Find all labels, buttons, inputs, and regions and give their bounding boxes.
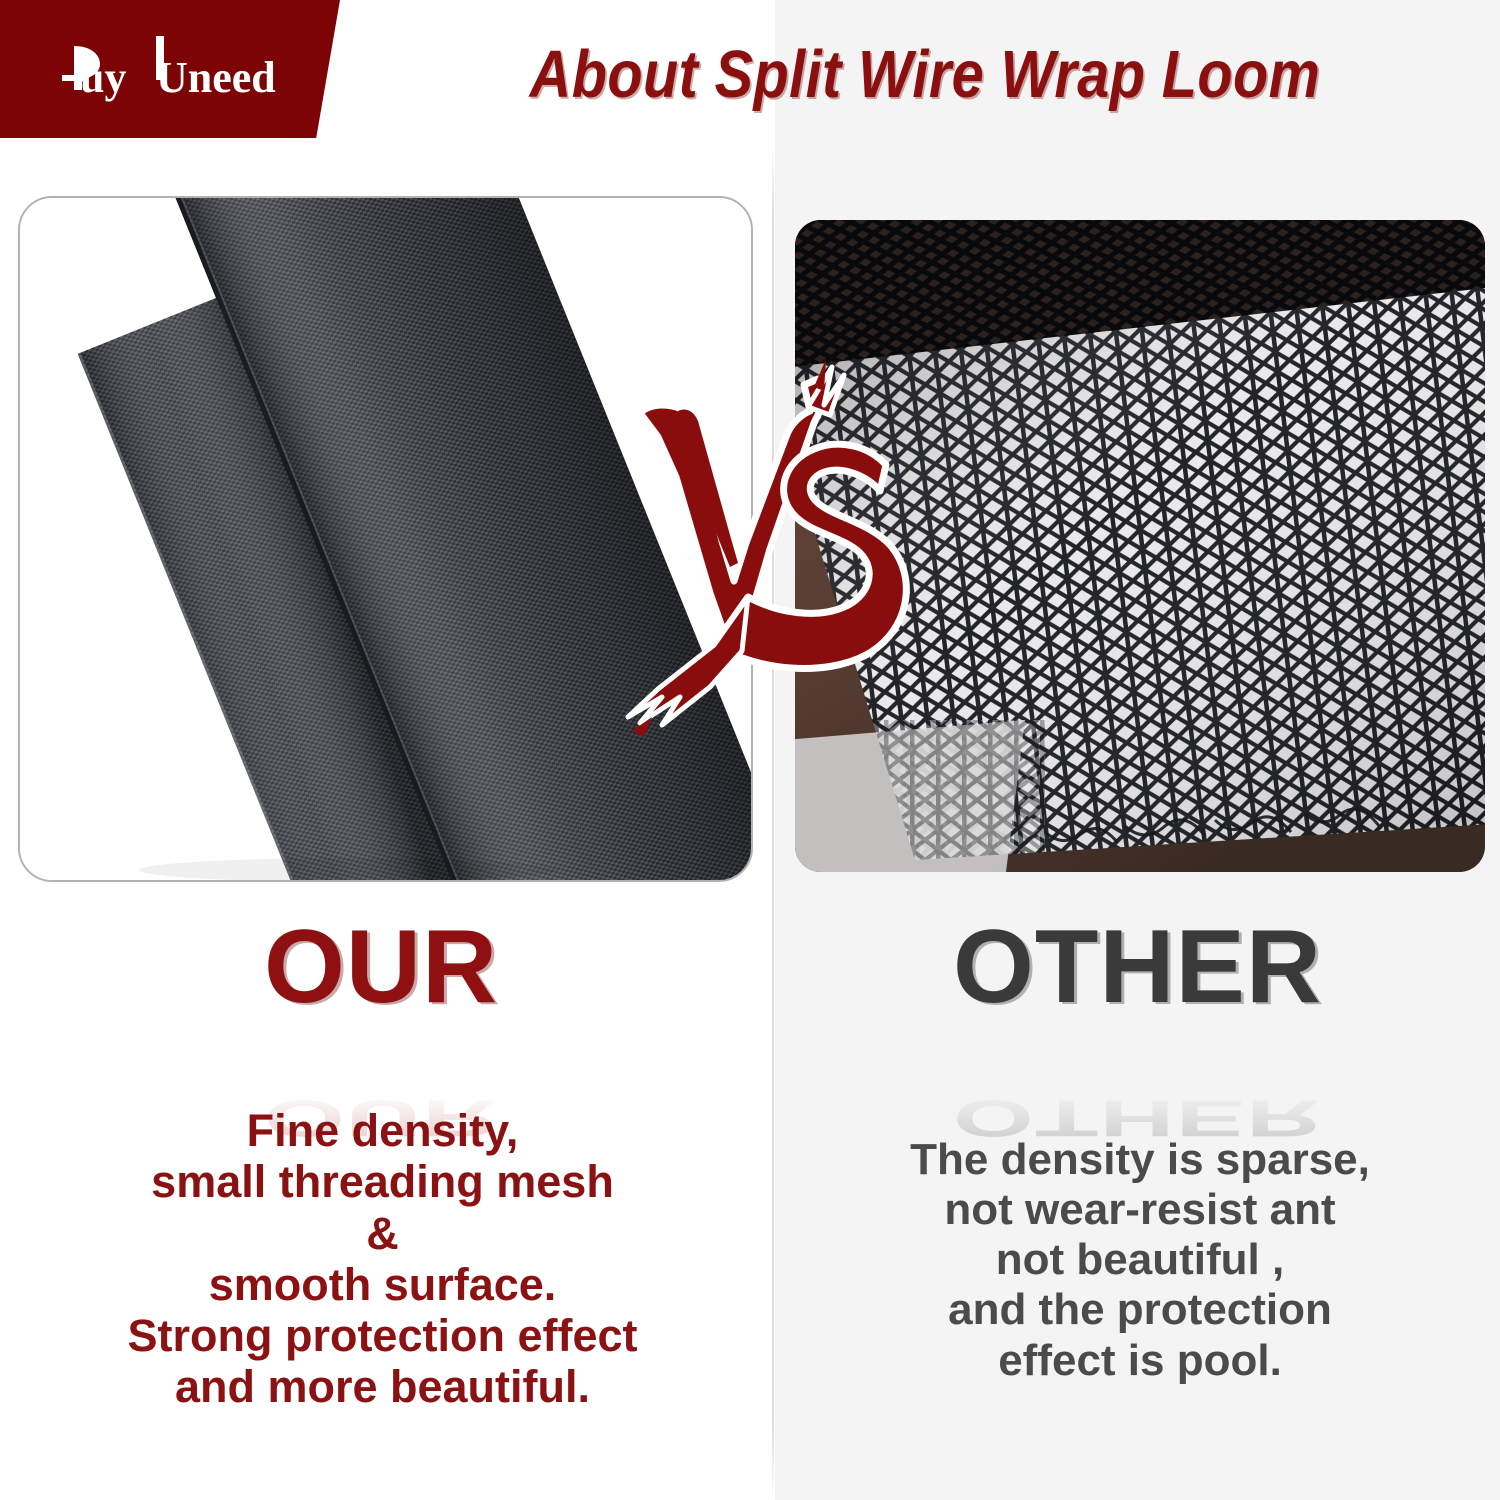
- brand-logo: uy Uneed: [52, 28, 292, 108]
- our-label: OUR: [0, 908, 762, 1027]
- other-product-photo: [795, 220, 1485, 872]
- svg-text:Uneed: Uneed: [156, 53, 276, 102]
- other-product-card: [795, 220, 1485, 872]
- other-label: OTHER: [775, 908, 1500, 1027]
- other-description: The density is sparse, not wear-resist a…: [810, 1135, 1470, 1386]
- page-title: About Split Wire Wrap Loom: [439, 22, 1411, 127]
- svg-text:uy: uy: [80, 53, 126, 102]
- our-description: Fine density, small threading mesh & smo…: [30, 1105, 735, 1413]
- our-product-card: [18, 196, 753, 882]
- panel-divider: [772, 145, 774, 1500]
- our-product-photo: [20, 198, 751, 880]
